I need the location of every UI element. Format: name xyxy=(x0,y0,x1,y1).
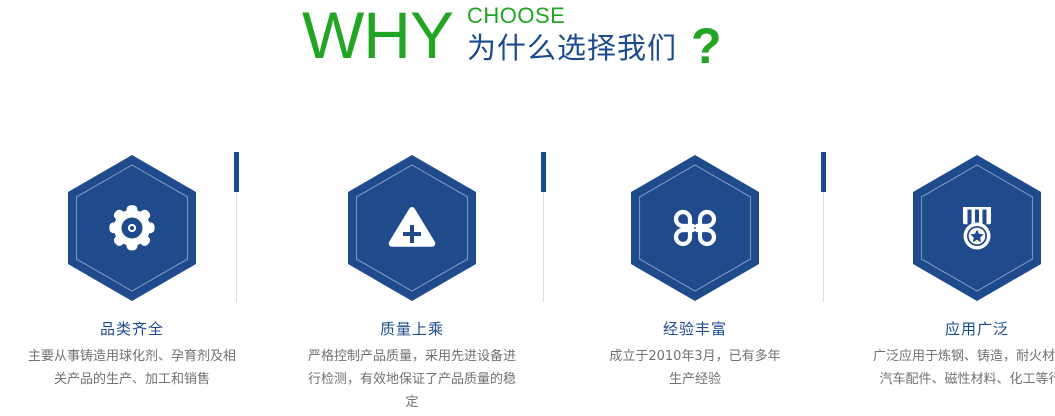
hexagon-badge xyxy=(910,153,1044,303)
gear-icon xyxy=(65,153,199,303)
hexagon-badge xyxy=(628,153,762,303)
header-chinese-title: 为什么选择我们 xyxy=(467,30,677,67)
feature-description: 广泛应用于炼钢、铸造，耐火材料、汽车配件、磁性材料、化工等行业 xyxy=(845,345,1055,391)
feature-description: 主要从事铸造用球化剂、孕育剂及相关产品的生产、加工和销售 xyxy=(0,345,264,391)
hexagon-badge xyxy=(345,153,479,303)
header-title-group: WHY CHOOSE 为什么选择我们 ? xyxy=(302,0,722,74)
header-question-mark: ? xyxy=(691,0,722,74)
feature-column: 应用广泛 广泛应用于炼钢、铸造，耐火材料、汽车配件、磁性材料、化工等行业 xyxy=(845,140,1055,391)
feature-column: 经验丰富 成立于2010年3月，已有多年生产经验 xyxy=(563,140,827,391)
feature-description: 严格控制产品质量，采用先进设备进行检测，有效地保证了产品质量的稳定 xyxy=(280,345,544,414)
header-why-word: WHY xyxy=(302,0,453,70)
triangle-plus-icon xyxy=(345,153,479,303)
section-header: WHY CHOOSE 为什么选择我们 ? xyxy=(0,0,1055,100)
clover-icon xyxy=(628,153,762,303)
feature-title: 应用广泛 xyxy=(845,319,1055,339)
medal-icon xyxy=(910,153,1044,303)
feature-title: 品类齐全 xyxy=(0,319,264,339)
feature-title: 质量上乘 xyxy=(280,319,544,339)
feature-description: 成立于2010年3月，已有多年生产经验 xyxy=(563,345,827,391)
feature-column: 质量上乘 严格控制产品质量，采用先进设备进行检测，有效地保证了产品质量的稳定 xyxy=(280,140,544,414)
feature-title: 经验丰富 xyxy=(563,319,827,339)
hexagon-badge xyxy=(65,153,199,303)
header-middle-stack: CHOOSE 为什么选择我们 xyxy=(467,0,677,67)
feature-column: 品类齐全 主要从事铸造用球化剂、孕育剂及相关产品的生产、加工和销售 xyxy=(0,140,264,391)
feature-columns: 品类齐全 主要从事铸造用球化剂、孕育剂及相关产品的生产、加工和销售 质量上乘 严… xyxy=(0,140,1055,416)
header-choose-word: CHOOSE xyxy=(467,3,677,28)
